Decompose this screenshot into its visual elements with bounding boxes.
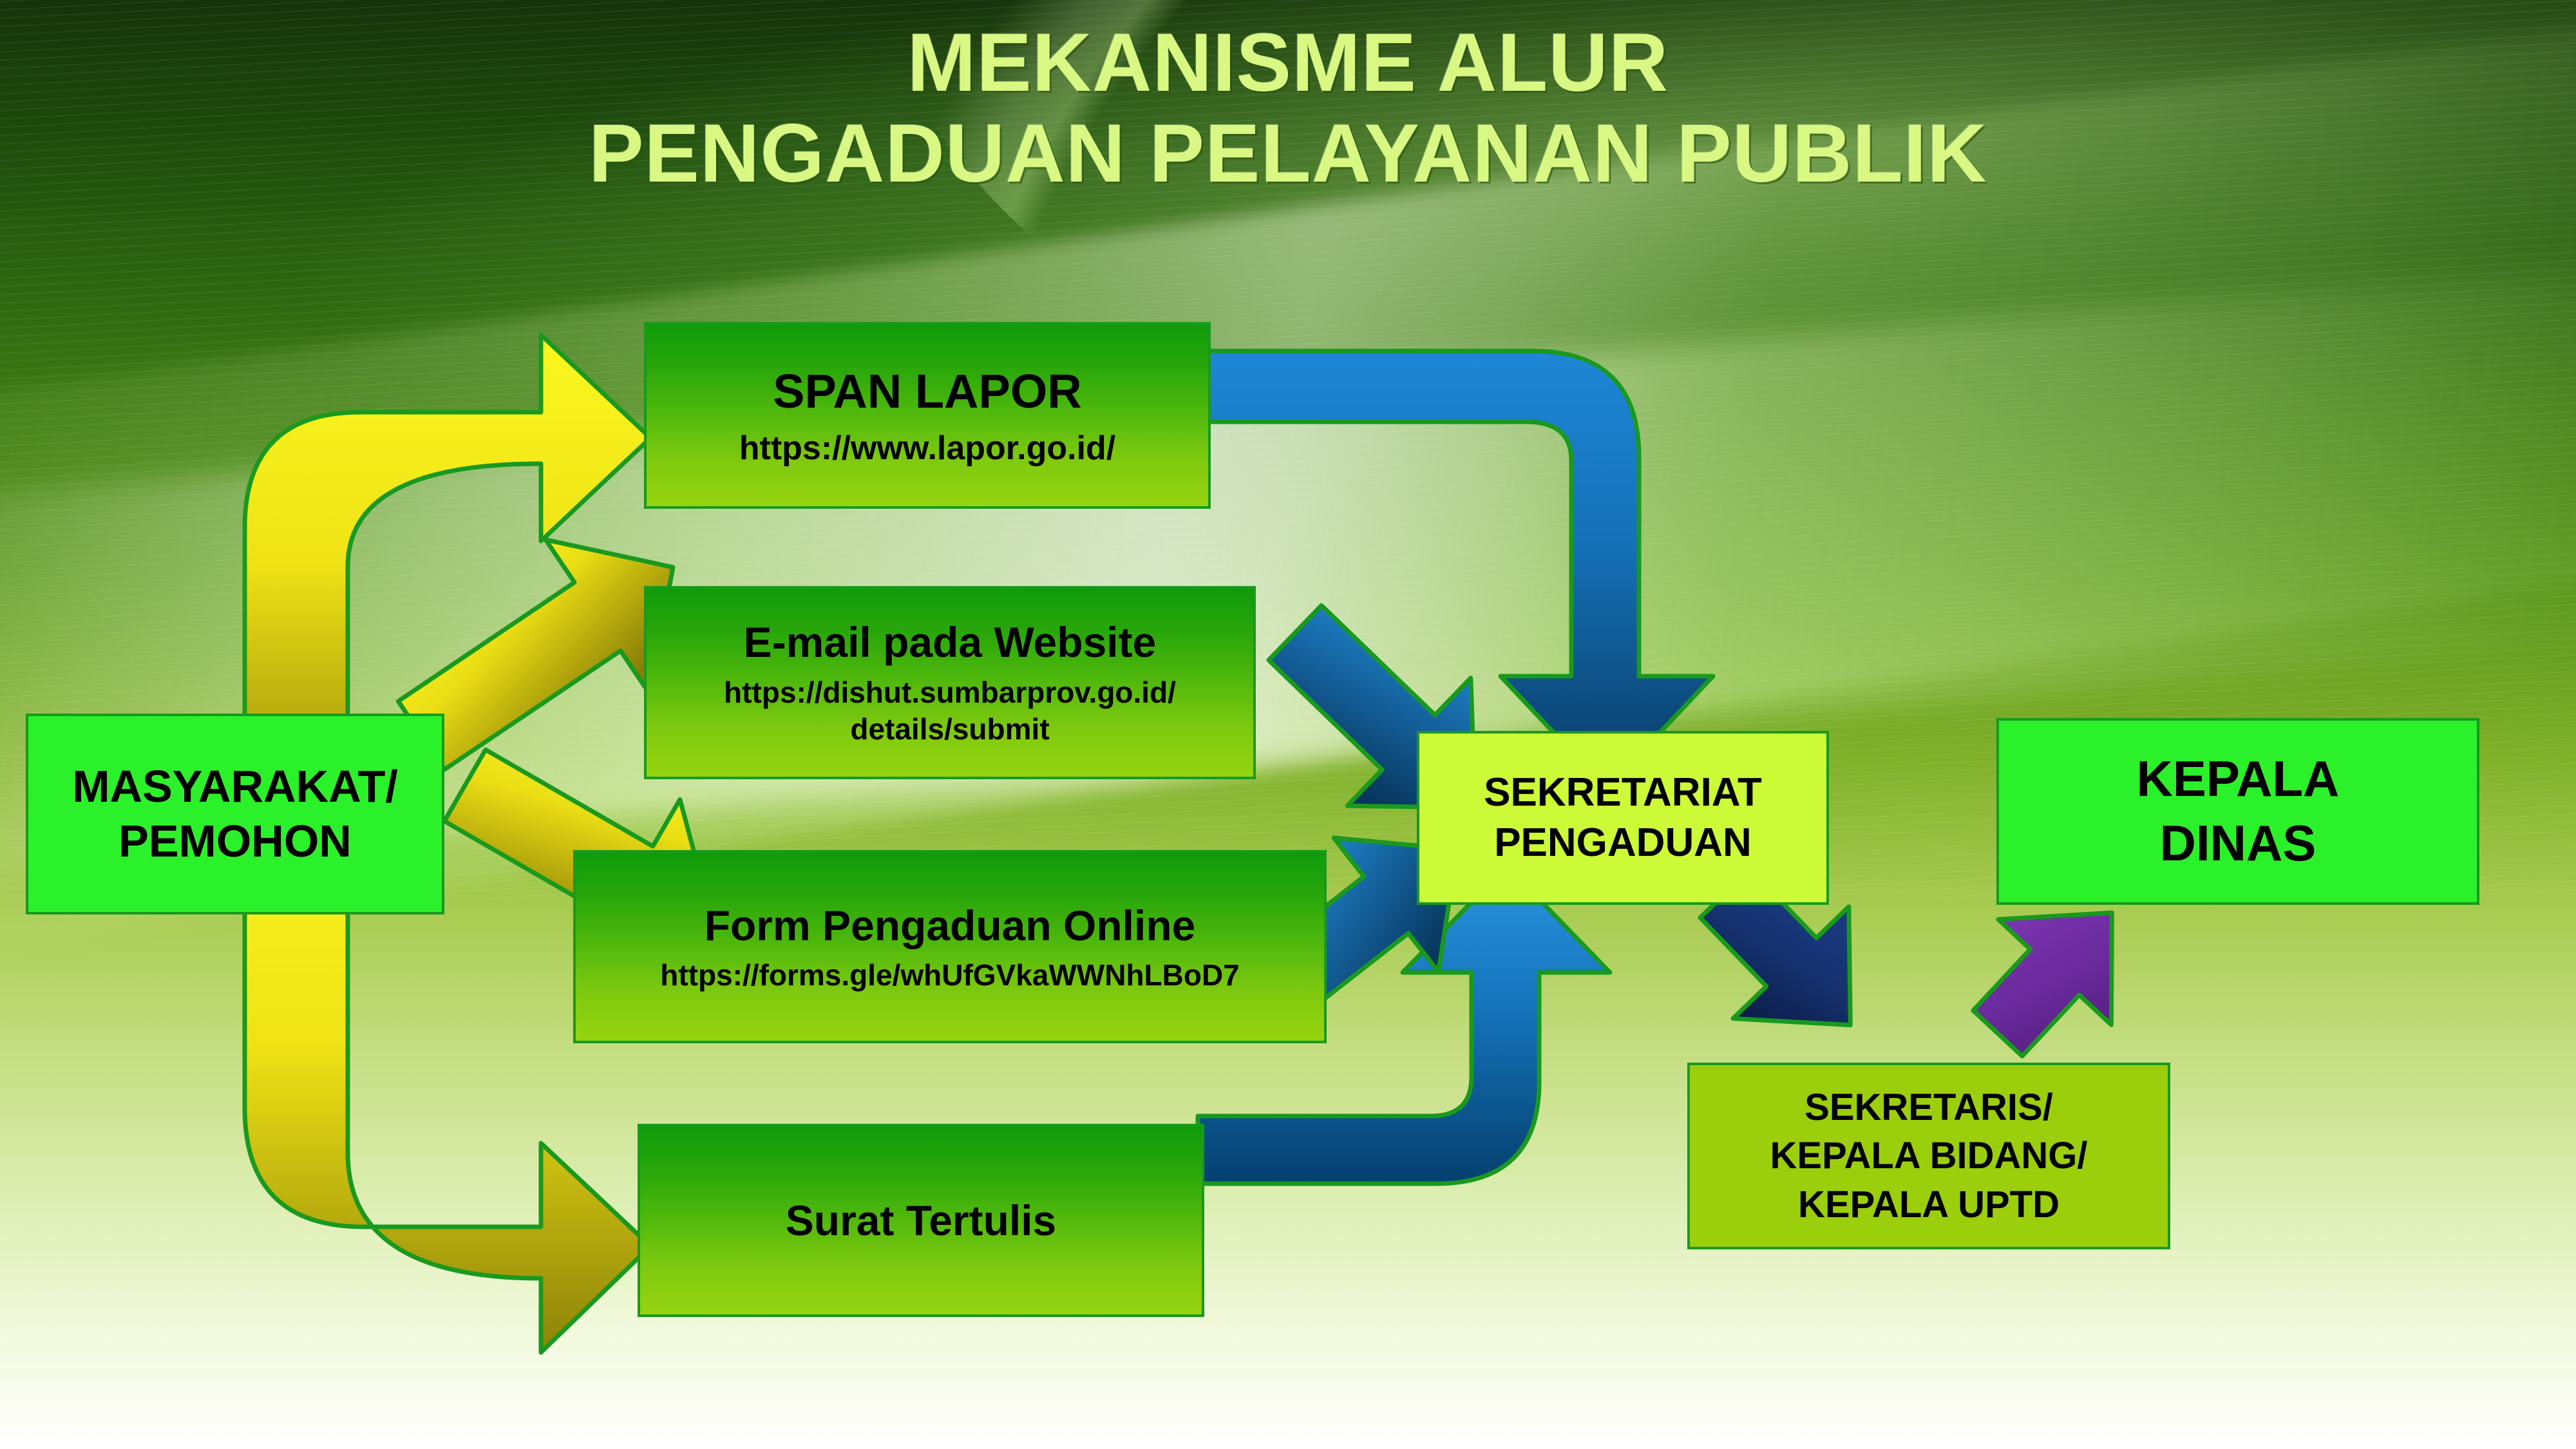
node-sekretaris-kepala-bidang-uptd[interactable]: SEKRETARIS/ KEPALA BIDANG/ KEPALA UPTD (1687, 1063, 2170, 1249)
node-sekretariat-label: SEKRETARIAT PENGADUAN (1484, 768, 1762, 868)
node-span-lapor-url[interactable]: https://www.lapor.go.id/ (739, 429, 1116, 468)
node-form-pengaduan-url[interactable]: https://forms.gle/whUfGVkaWWNhLBoD7 (660, 958, 1240, 992)
node-kepala-dinas-label: KEPALA DINAS (2137, 747, 2340, 876)
node-masyarakat-pemohon[interactable]: MASYARAKAT/ PEMOHON (26, 714, 444, 914)
node-sekretariat-pengaduan[interactable]: SEKRETARIAT PENGADUAN (1417, 731, 1829, 905)
diagram-canvas: MEKANISME ALUR PENGADUAN PELAYANAN PUBLI… (0, 0, 2576, 1449)
node-email-website[interactable]: E-mail pada Website https://dishut.sumba… (644, 586, 1256, 779)
node-span-lapor-label: SPAN LAPOR (773, 364, 1082, 419)
node-masyarakat-label: MASYARAKAT/ PEMOHON (72, 759, 398, 869)
node-form-pengaduan-online[interactable]: Form Pengaduan Online https://forms.gle/… (573, 850, 1327, 1043)
node-surat-tertulis-label: Surat Tertulis (786, 1196, 1057, 1245)
node-kepala-dinas[interactable]: KEPALA DINAS (1996, 718, 2479, 905)
node-span-lapor[interactable]: SPAN LAPOR https://www.lapor.go.id/ (644, 322, 1211, 509)
node-form-pengaduan-label: Form Pengaduan Online (705, 901, 1196, 950)
node-email-website-url[interactable]: https://dishut.sumbarprov.go.id/ details… (724, 674, 1176, 748)
node-sekretaris-label: SEKRETARIS/ KEPALA BIDANG/ KEPALA UPTD (1770, 1083, 2088, 1229)
node-surat-tertulis[interactable]: Surat Tertulis (638, 1124, 1204, 1317)
node-email-website-label: E-mail pada Website (744, 618, 1157, 667)
